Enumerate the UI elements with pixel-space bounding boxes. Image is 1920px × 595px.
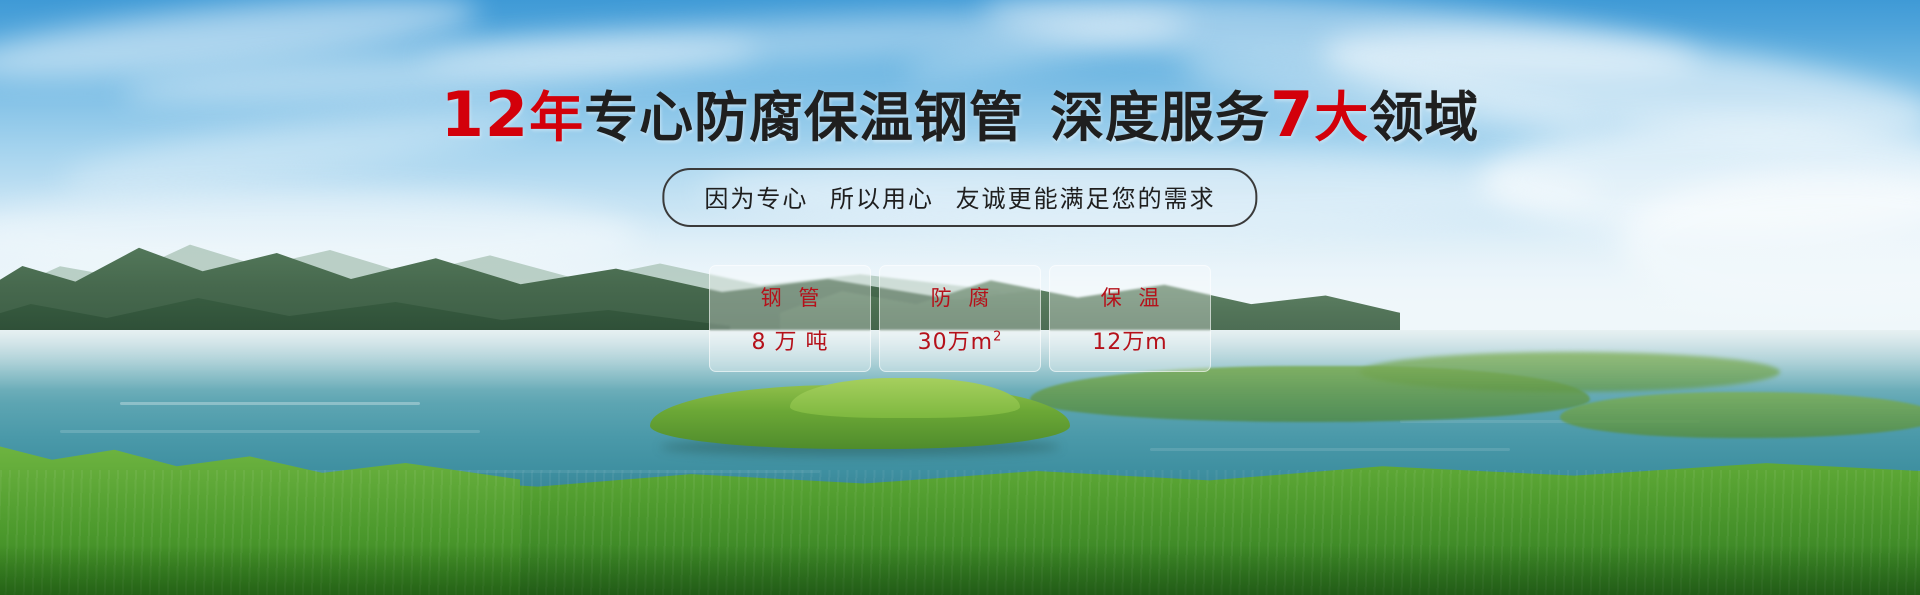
subtitle-segment-3: 友诚更能满足您的需求 <box>956 185 1216 213</box>
stat-value-text: 12万m <box>1092 330 1167 355</box>
stat-value-superscript: 2 <box>993 329 1002 344</box>
headline-service-text: 深度服务 <box>1050 86 1270 149</box>
promo-banner: 12年专心防腐保温钢管深度服务7大领域 因为专心 所以用心 友诚更能满足您的需求… <box>0 0 1920 595</box>
stat-value-text: 30万m <box>918 330 993 355</box>
stat-card-label: 防 腐 <box>926 282 995 312</box>
stat-card-value: 30万m2 <box>918 324 1003 356</box>
headline-years-unit: 年 <box>529 86 584 149</box>
stat-card-insulation[interactable]: 保 温 12万m <box>1049 265 1211 372</box>
headline-fields-text: 领域 <box>1369 86 1479 149</box>
banner-content: 12年专心防腐保温钢管深度服务7大领域 因为专心 所以用心 友诚更能满足您的需求… <box>0 0 1920 595</box>
stat-card-steel-pipe[interactable]: 钢 管 8 万 吨 <box>709 265 871 372</box>
subtitle-pill: 因为专心 所以用心 友诚更能满足您的需求 <box>662 168 1257 227</box>
headline-years-number: 12 <box>441 78 529 151</box>
stat-value-text: 8 万 吨 <box>752 330 829 355</box>
stat-card-list: 钢 管 8 万 吨 防 腐 30万m2 保 温 12万m <box>709 265 1211 372</box>
headline: 12年专心防腐保温钢管深度服务7大领域 <box>0 84 1920 146</box>
stat-card-anticorrosion[interactable]: 防 腐 30万m2 <box>879 265 1041 372</box>
headline-fields-unit: 大 <box>1314 86 1369 149</box>
stat-card-value: 8 万 吨 <box>752 324 829 356</box>
stat-card-label: 保 温 <box>1096 282 1165 312</box>
subtitle-segment-1: 因为专心 <box>704 185 808 213</box>
headline-main-text: 专心防腐保温钢管 <box>584 86 1024 149</box>
stat-card-label: 钢 管 <box>756 282 825 312</box>
subtitle-segment-2: 所以用心 <box>830 185 934 213</box>
headline-fields-number: 7 <box>1270 78 1314 151</box>
stat-card-value: 12万m <box>1092 324 1167 356</box>
